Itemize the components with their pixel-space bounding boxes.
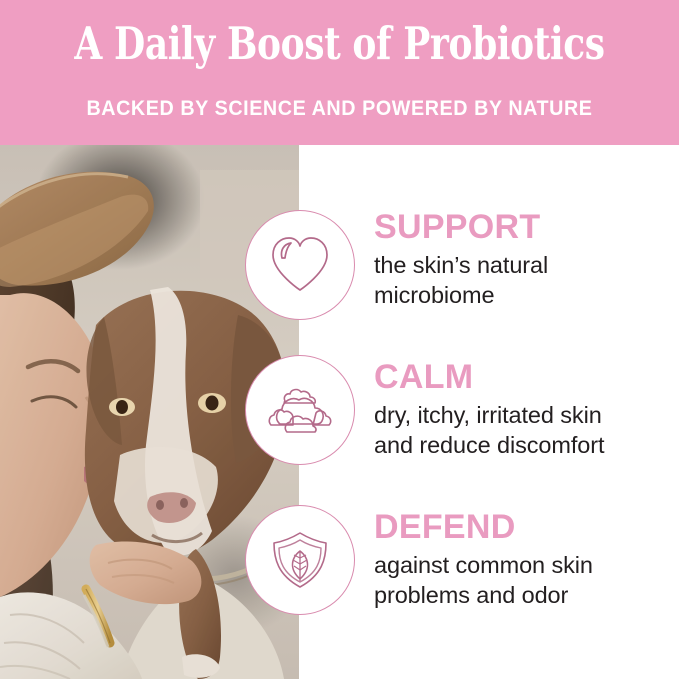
feature-defend-heading: DEFEND: [374, 508, 674, 546]
feature-calm-heading: CALM: [374, 358, 674, 396]
shield-leaf-icon-badge: [245, 505, 355, 615]
feature-support-body-line-2: microbiome: [374, 280, 674, 310]
feature-defend-body-line-1: against common skin: [374, 550, 674, 580]
feature-support-heading: SUPPORT: [374, 208, 674, 246]
clouds-icon: [265, 375, 335, 445]
feature-calm-text: CALM dry, itchy, irritated skin and redu…: [374, 358, 674, 460]
heart-icon-badge: [245, 210, 355, 320]
heart-icon: [265, 230, 335, 300]
product-benefits-graphic: A Daily Boost of Probiotics BACKED BY SC…: [0, 0, 679, 679]
header-banner: A Daily Boost of Probiotics BACKED BY SC…: [0, 0, 679, 145]
feature-support-text: SUPPORT the skin’s natural microbiome: [374, 208, 674, 310]
feature-calm-body: dry, itchy, irritated skin and reduce di…: [374, 400, 674, 460]
feature-calm-body-line-1: dry, itchy, irritated skin: [374, 400, 674, 430]
feature-calm-body-line-2: and reduce discomfort: [374, 430, 674, 460]
shield-leaf-icon: [265, 525, 335, 595]
feature-support-body-line-1: the skin’s natural: [374, 250, 674, 280]
feature-support-body: the skin’s natural microbiome: [374, 250, 674, 310]
header-subtitle: BACKED BY SCIENCE AND POWERED BY NATURE: [20, 96, 658, 122]
feature-defend-body-line-2: problems and odor: [374, 580, 674, 610]
feature-defend-text: DEFEND against common skin problems and …: [374, 508, 674, 610]
page-title: A Daily Boost of Probiotics: [68, 18, 611, 70]
clouds-icon-badge: [245, 355, 355, 465]
feature-defend-body: against common skin problems and odor: [374, 550, 674, 610]
